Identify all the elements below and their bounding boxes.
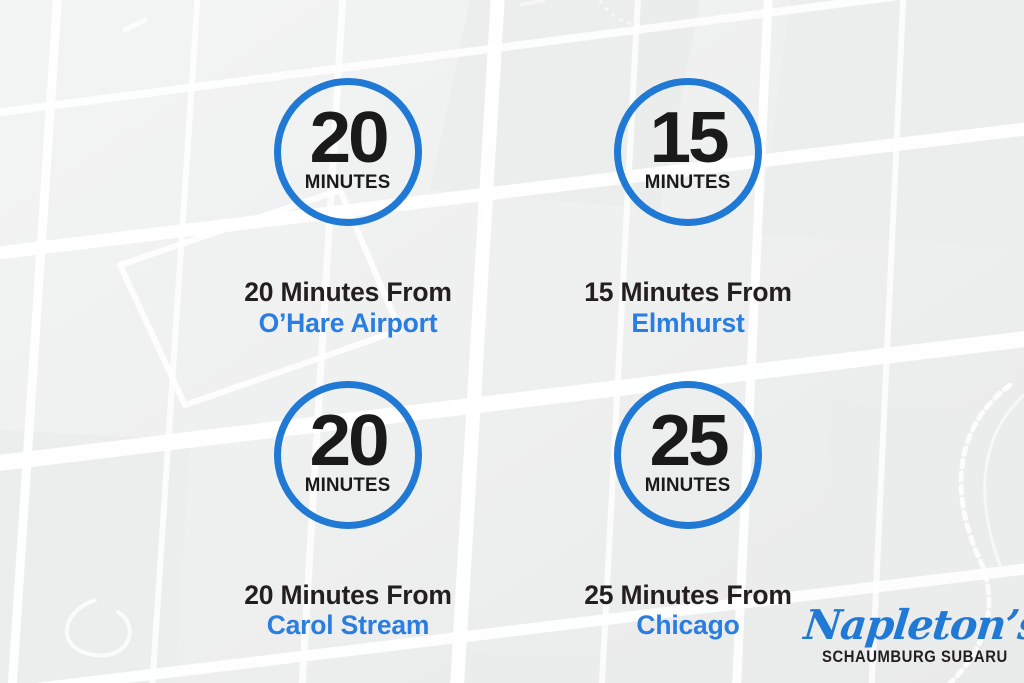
badge-number: 20: [309, 412, 386, 471]
caption-destination: Chicago: [584, 611, 792, 640]
dealer-logo: Napleton’s SCHAUMBURG SUBARU: [802, 605, 1002, 666]
caption-primary: 20 Minutes From: [244, 278, 452, 307]
card-caption: 15 Minutes From Elmhurst: [584, 278, 792, 337]
badge-number: 25: [649, 412, 726, 471]
dealer-logo-wordmark: Napleton’s: [802, 605, 1006, 646]
minutes-badge: 20 MINUTES: [274, 78, 422, 226]
caption-primary: 20 Minutes From: [244, 581, 452, 610]
drive-times-graphic: 20 MINUTES 20 Minutes From O’Hare Airpor…: [0, 0, 1024, 683]
dealer-logo-subtitle: SCHAUMBURG SUBARU: [822, 649, 1002, 666]
caption-primary: 25 Minutes From: [584, 581, 792, 610]
drive-time-card: 15 MINUTES 15 Minutes From Elmhurst: [518, 78, 858, 381]
minutes-badge: 25 MINUTES: [614, 381, 762, 529]
drive-time-card: 20 MINUTES 20 Minutes From Carol Stream: [178, 381, 518, 683]
badge-unit-label: MINUTES: [645, 476, 731, 496]
caption-destination: O’Hare Airport: [244, 309, 452, 338]
badge-number: 15: [649, 109, 726, 168]
drive-time-grid: 20 MINUTES 20 Minutes From O’Hare Airpor…: [178, 0, 858, 683]
badge-number: 20: [309, 109, 386, 168]
minutes-badge: 15 MINUTES: [614, 78, 762, 226]
caption-destination: Elmhurst: [584, 309, 792, 338]
minutes-badge: 20 MINUTES: [274, 381, 422, 529]
caption-destination: Carol Stream: [244, 611, 452, 640]
card-caption: 20 Minutes From O’Hare Airport: [244, 278, 452, 337]
card-caption: 20 Minutes From Carol Stream: [244, 581, 452, 640]
badge-unit-label: MINUTES: [305, 476, 391, 496]
drive-time-card: 20 MINUTES 20 Minutes From O’Hare Airpor…: [178, 78, 518, 381]
badge-unit-label: MINUTES: [305, 173, 391, 193]
badge-unit-label: MINUTES: [645, 173, 731, 193]
caption-primary: 15 Minutes From: [584, 278, 792, 307]
card-caption: 25 Minutes From Chicago: [584, 581, 792, 640]
